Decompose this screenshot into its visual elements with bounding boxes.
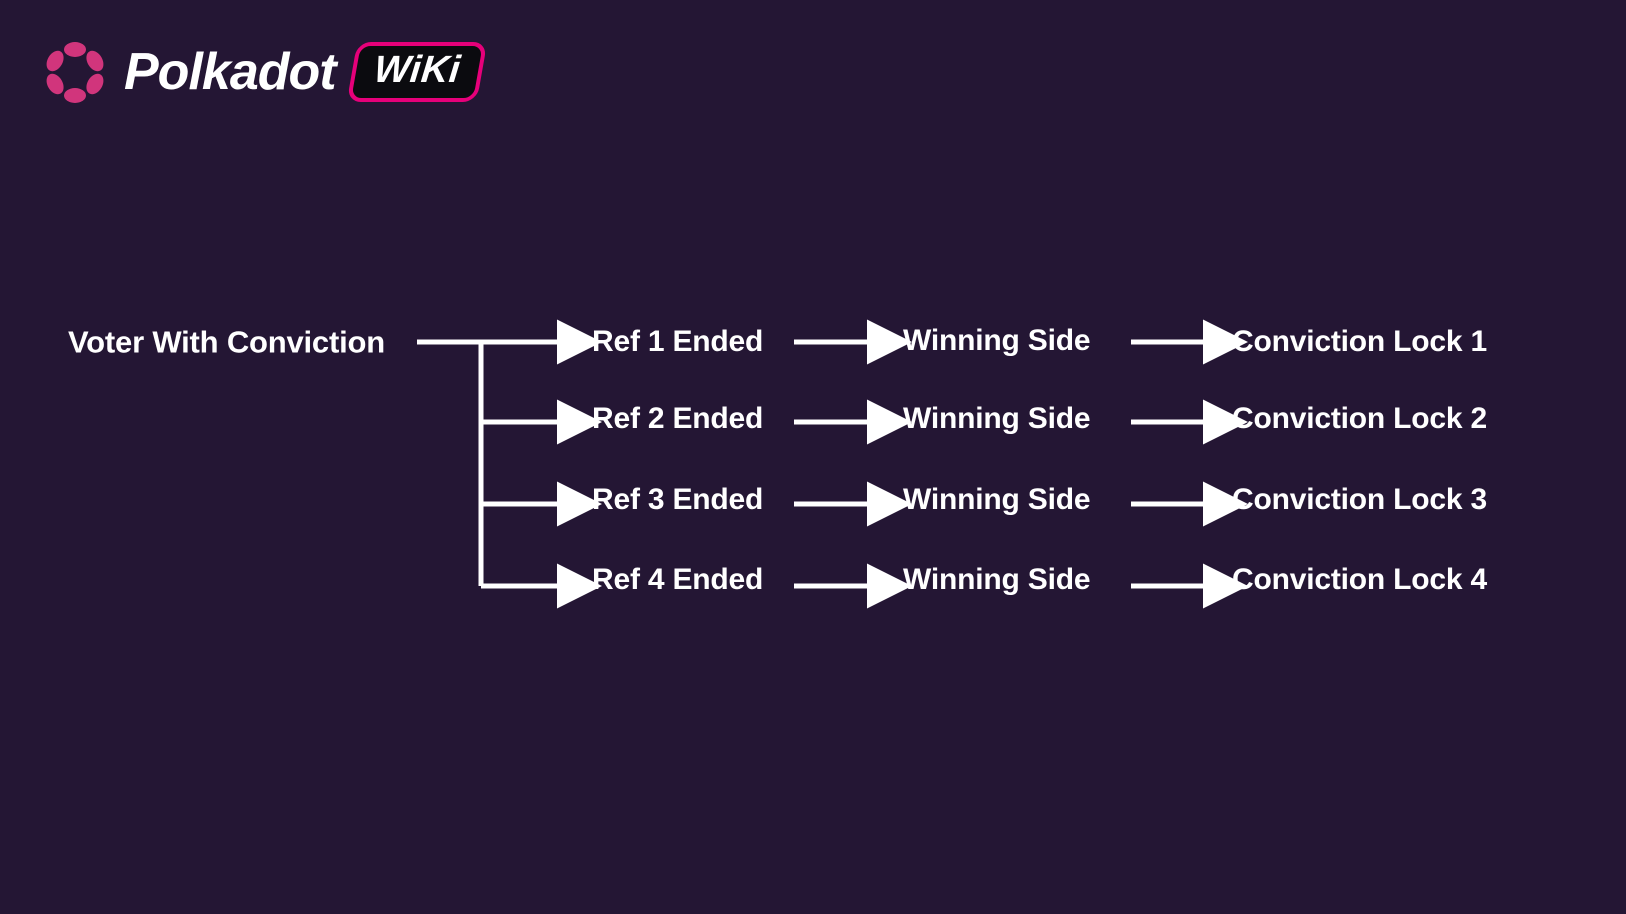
node-winning-side-3: Winning Side <box>903 485 1090 515</box>
node-voter-with-conviction: Voter With Conviction <box>68 327 385 358</box>
node-winning-side-4: Winning Side <box>903 565 1090 595</box>
arrows-ref-to-outcome <box>794 342 872 586</box>
node-ref-2-ended: Ref 2 Ended <box>592 404 763 434</box>
node-conviction-lock-1: Conviction Lock 1 <box>1232 327 1487 357</box>
node-ref-4-ended: Ref 4 Ended <box>592 565 763 595</box>
node-conviction-lock-4: Conviction Lock 4 <box>1232 565 1487 595</box>
branch-trunk <box>417 342 481 586</box>
arrows-outcome-to-lock <box>1131 342 1208 586</box>
node-winning-side-1: Winning Side <box>903 326 1090 356</box>
node-conviction-lock-3: Conviction Lock 3 <box>1232 485 1487 515</box>
branch-arrows <box>481 342 562 586</box>
node-ref-1-ended: Ref 1 Ended <box>592 327 763 357</box>
diagram-connectors <box>0 0 1626 914</box>
conviction-lock-diagram: Voter With Conviction Ref 1 Ended Winnin… <box>0 0 1626 914</box>
node-conviction-lock-2: Conviction Lock 2 <box>1232 404 1487 434</box>
node-winning-side-2: Winning Side <box>903 404 1090 434</box>
node-ref-3-ended: Ref 3 Ended <box>592 485 763 515</box>
